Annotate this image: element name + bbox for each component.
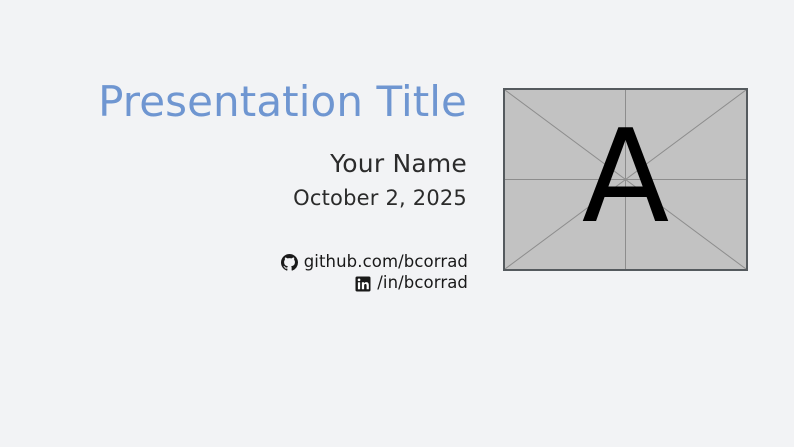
link-label-github: github.com/bcorrad xyxy=(304,254,468,271)
link-item-linkedin[interactable]: /in/bcorrad xyxy=(0,275,468,292)
presentation-slide: Presentation Title Your Name October 2, … xyxy=(0,0,794,447)
author-name: Your Name xyxy=(0,148,467,179)
image-placeholder[interactable]: A xyxy=(503,88,748,271)
title-block: Presentation Title xyxy=(0,80,467,124)
presentation-date: October 2, 2025 xyxy=(0,185,467,211)
author-meta-block: Your Name October 2, 2025 xyxy=(0,148,467,212)
placeholder-letter: A xyxy=(505,90,746,269)
link-item-github[interactable]: github.com/bcorrad xyxy=(0,254,468,271)
page-title: Presentation Title xyxy=(0,80,467,124)
github-icon xyxy=(281,254,298,271)
link-label-linkedin: /in/bcorrad xyxy=(377,275,468,292)
social-links: github.com/bcorrad /in/bcorrad xyxy=(0,254,468,296)
linkedin-icon xyxy=(354,275,371,292)
